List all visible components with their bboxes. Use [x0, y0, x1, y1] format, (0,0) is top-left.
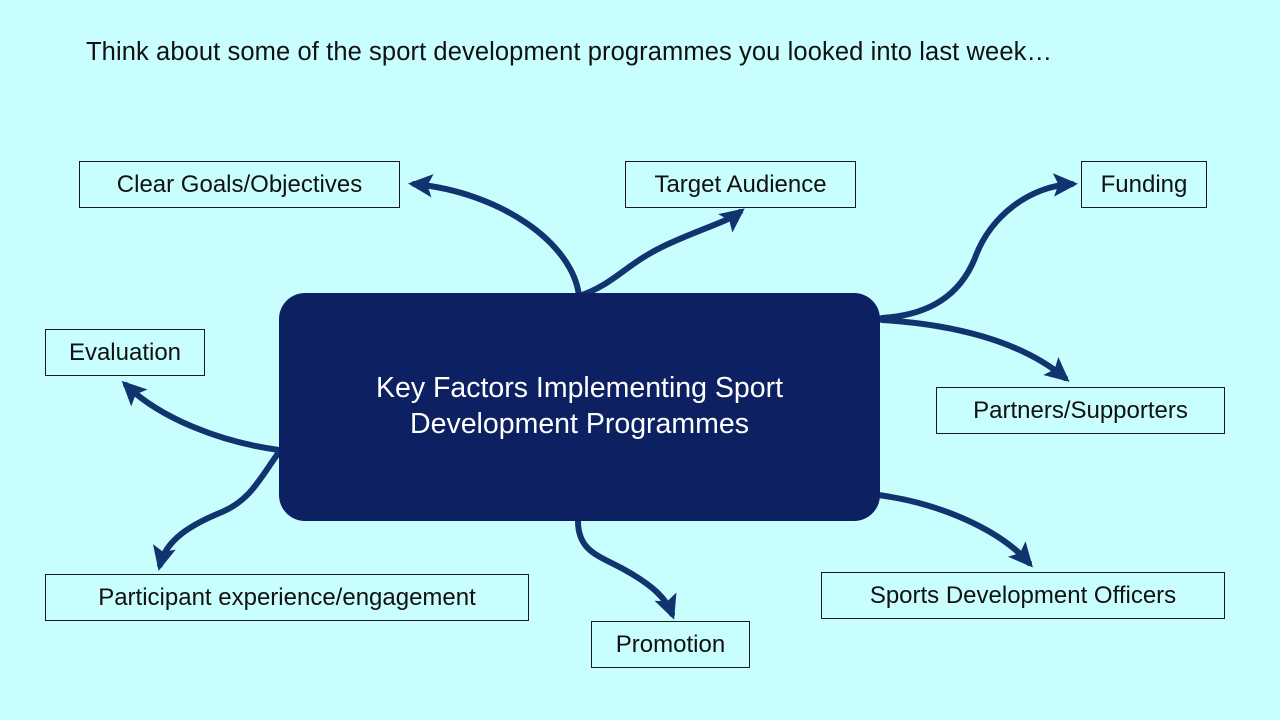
slide-canvas: Think about some of the sport developmen…: [0, 0, 1280, 720]
center-node-line-1: Key Factors Implementing Sport: [376, 371, 783, 407]
connector-to-clear-goals: [414, 184, 579, 296]
slide-headline: Think about some of the sport developmen…: [86, 38, 1052, 67]
connector-to-participant: [160, 452, 279, 565]
connector-to-partners: [882, 320, 1065, 378]
connector-to-funding: [882, 184, 1072, 318]
node-participant-experience[interactable]: Participant experience/engagement: [45, 574, 529, 621]
connector-to-sdo: [878, 495, 1029, 563]
node-label: Partners/Supporters: [973, 399, 1188, 423]
node-label: Target Audience: [654, 173, 826, 197]
connector-to-target-audience: [579, 212, 740, 296]
node-label: Promotion: [616, 633, 725, 657]
node-label: Evaluation: [69, 341, 181, 365]
node-label: Sports Development Officers: [870, 584, 1176, 608]
node-promotion[interactable]: Promotion: [591, 621, 750, 668]
node-clear-goals[interactable]: Clear Goals/Objectives: [79, 161, 400, 208]
center-node-line-2: Development Programmes: [376, 407, 783, 443]
node-target-audience[interactable]: Target Audience: [625, 161, 856, 208]
node-label: Clear Goals/Objectives: [117, 173, 362, 197]
node-funding[interactable]: Funding: [1081, 161, 1207, 208]
connector-to-promotion: [578, 521, 672, 614]
node-sports-development-officers[interactable]: Sports Development Officers: [821, 572, 1225, 619]
center-node[interactable]: Key Factors Implementing Sport Developme…: [279, 293, 880, 521]
node-label: Funding: [1101, 173, 1188, 197]
node-partners-supporters[interactable]: Partners/Supporters: [936, 387, 1225, 434]
node-label: Participant experience/engagement: [98, 586, 476, 610]
connector-to-evaluation: [126, 385, 279, 450]
node-evaluation[interactable]: Evaluation: [45, 329, 205, 376]
